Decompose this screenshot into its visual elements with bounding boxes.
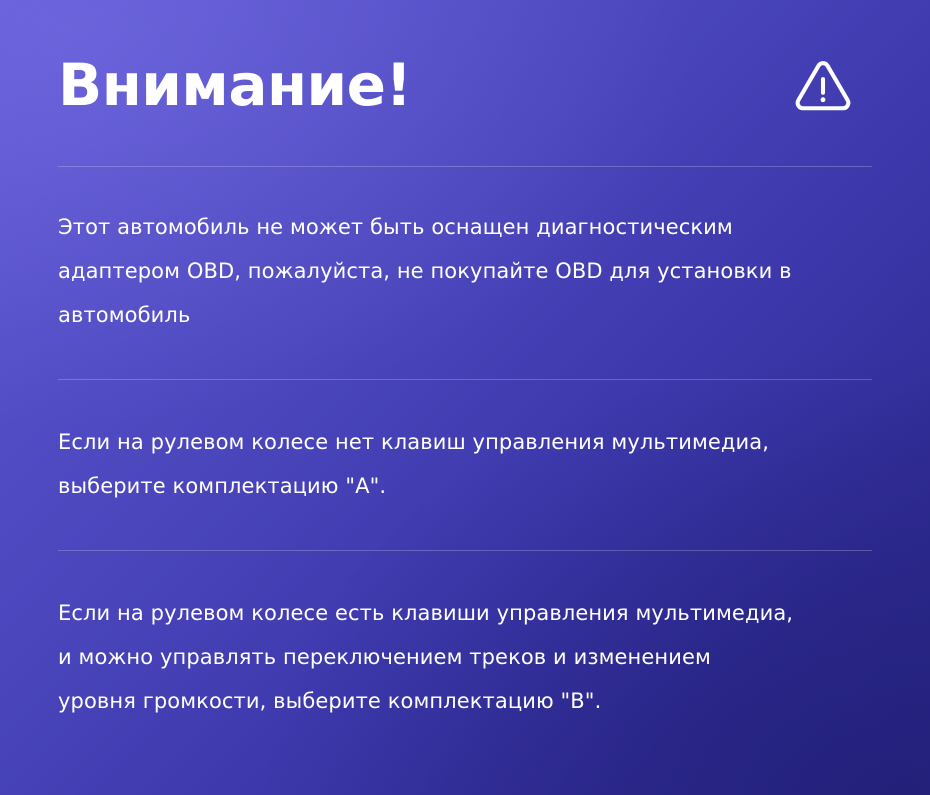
trim-a-line-1: Если на рулевом колесе нет клавиш управл… bbox=[58, 420, 872, 464]
warning-banner: Внимание! Этот автомобиль не может быть … bbox=[0, 0, 930, 795]
obd-warning-line-1: Этот автомобиль не может быть оснащен ди… bbox=[58, 205, 872, 249]
trim-b-line-2: и можно управлять переключением треков и… bbox=[58, 635, 872, 679]
trim-a-line-2: выберите комплектацию "A". bbox=[58, 464, 872, 508]
warning-triangle-icon bbox=[792, 54, 854, 116]
trim-b-line-3: уровня громкости, выберите комплектацию … bbox=[58, 679, 872, 723]
banner-header: Внимание! bbox=[58, 0, 872, 166]
obd-warning-line-2: адаптером OBD, пожалуйста, не покупайте … bbox=[58, 249, 872, 293]
banner-content: Внимание! Этот автомобиль не может быть … bbox=[0, 0, 930, 723]
trim-b-line-1: Если на рулевом колесе есть клавиши упра… bbox=[58, 591, 872, 635]
section-obd-warning: Этот автомобиль не может быть оснащен ди… bbox=[58, 167, 872, 379]
page-title: Внимание! bbox=[58, 56, 411, 114]
obd-warning-line-3: автомобиль bbox=[58, 293, 872, 337]
section-trim-a: Если на рулевом колесе нет клавиш управл… bbox=[58, 380, 872, 550]
section-trim-b: Если на рулевом колесе есть клавиши упра… bbox=[58, 551, 872, 723]
